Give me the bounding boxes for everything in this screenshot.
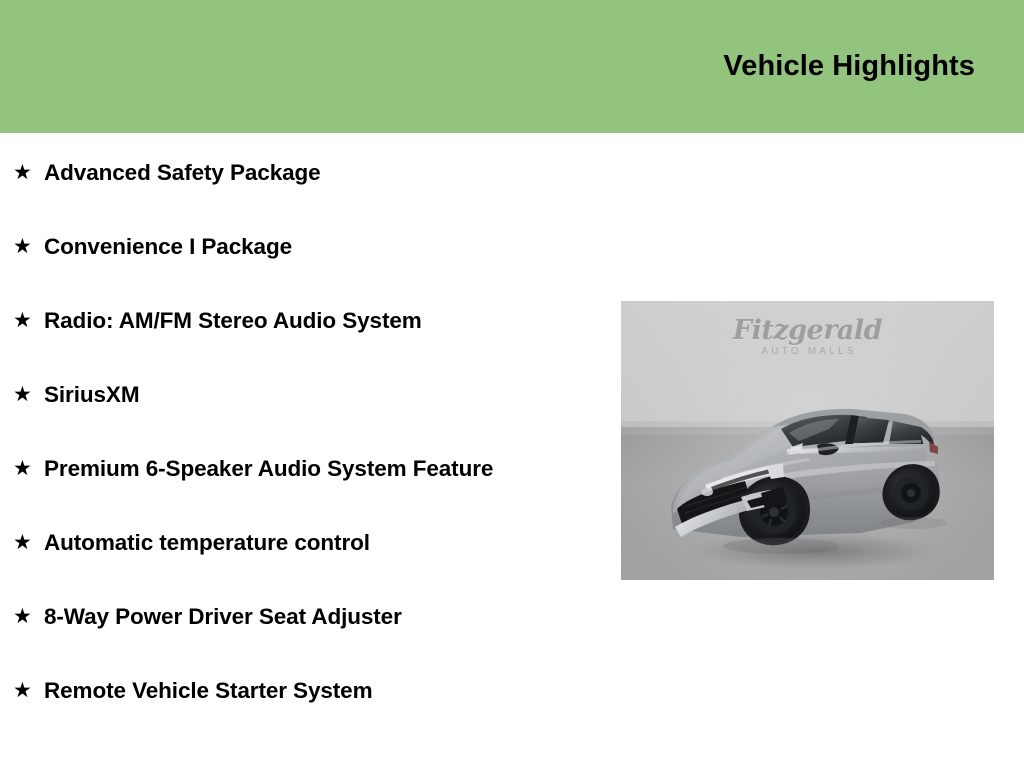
page-title: Vehicle Highlights (723, 50, 975, 83)
highlight-label: 8-Way Power Driver Seat Adjuster (44, 600, 544, 634)
star-icon: ★ (13, 600, 32, 634)
star-icon: ★ (13, 378, 32, 412)
list-item: ★ Radio: AM/FM Stereo Audio System (0, 304, 600, 356)
list-item: ★ 8-Way Power Driver Seat Adjuster (0, 600, 600, 652)
list-item: ★ SiriusXM (0, 378, 600, 430)
star-icon: ★ (13, 452, 32, 486)
star-icon: ★ (13, 526, 32, 560)
highlight-label: Premium 6-Speaker Audio System Feature (44, 452, 544, 486)
vehicle-highlights-list: ★ Advanced Safety Package ★ Convenience … (0, 133, 600, 726)
highlight-label: SiriusXM (44, 378, 544, 412)
highlight-label: Convenience I Package (44, 230, 544, 264)
list-item: ★ Advanced Safety Package (0, 156, 600, 208)
highlight-label: Advanced Safety Package (44, 156, 544, 190)
star-icon: ★ (13, 674, 32, 708)
star-icon: ★ (13, 230, 32, 264)
list-item: ★ Remote Vehicle Starter System (0, 674, 600, 726)
star-icon: ★ (13, 304, 32, 338)
header-band: Vehicle Highlights (0, 0, 1024, 133)
list-item: ★ Premium 6-Speaker Audio System Feature (0, 452, 600, 504)
vehicle-highlights-page: Vehicle Highlights ★ Advanced Safety Pac… (0, 0, 1024, 768)
vehicle-photo: Fitzgerald AUTO MALLS (621, 301, 994, 580)
highlight-label: Automatic temperature control (44, 526, 544, 560)
list-item: ★ Convenience I Package (0, 230, 600, 282)
vehicle-photo-image (621, 301, 994, 580)
highlight-label: Remote Vehicle Starter System (44, 674, 544, 708)
list-item: ★ Automatic temperature control (0, 526, 600, 578)
highlight-label: Radio: AM/FM Stereo Audio System (44, 304, 544, 338)
star-icon: ★ (13, 156, 32, 190)
